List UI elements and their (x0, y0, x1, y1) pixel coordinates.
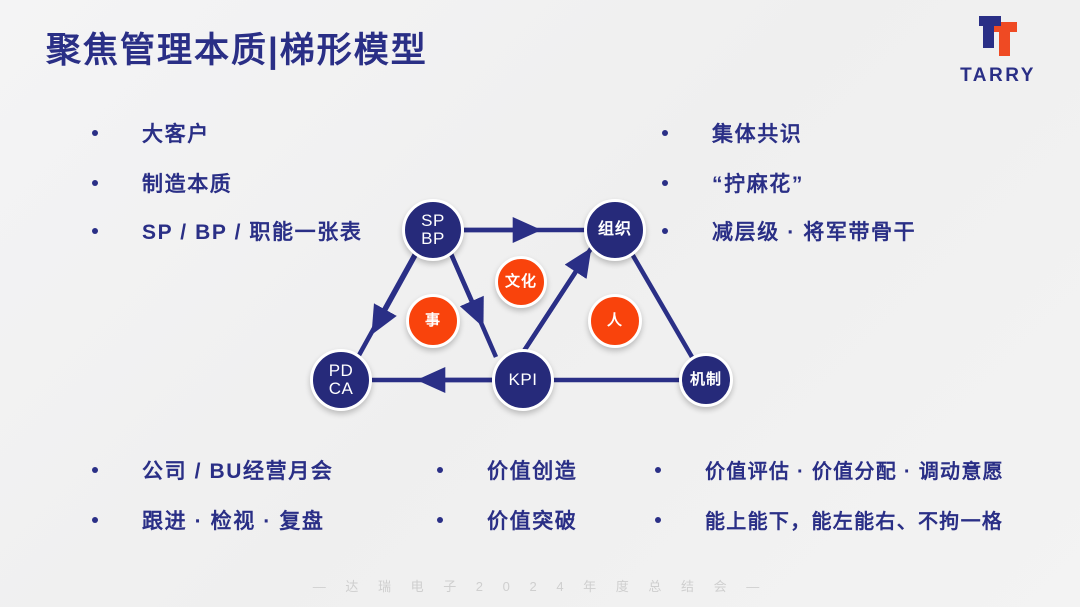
diagram-node-wenhua[interactable]: 文化 (495, 256, 547, 308)
bullet-label: 公司 / BU经营月会 (142, 455, 333, 485)
node-label-line1: KPI (509, 371, 538, 389)
node-label-line1: PD (329, 362, 354, 380)
bullet-label: 价值突破 (487, 505, 577, 535)
bullet-dot-icon (92, 130, 98, 136)
diagram-node-pdca[interactable]: PD CA (310, 349, 372, 411)
node-label-line1: 组织 (598, 222, 632, 239)
slide-footer: — 达 瑞 电 子 2 0 2 4 年 度 总 结 会 — (0, 576, 1080, 595)
node-label-line2: CA (329, 380, 354, 398)
node-label-line1: SP (421, 212, 445, 230)
diagram-node-shi[interactable]: 事 (406, 294, 460, 348)
bullet-label: 价值评估 · 价值分配 · 调动意愿 (705, 455, 1004, 484)
bullet-dot-icon (92, 228, 98, 234)
bullet-dot-icon (437, 517, 443, 523)
node-label-line1: 人 (607, 313, 623, 329)
node-label-line2: BP (421, 230, 445, 248)
page-title: 聚焦管理本质|梯形模型 (46, 22, 428, 73)
bullet-item-top-right-0: 集体共识 (662, 118, 802, 148)
diagram-node-spbp[interactable]: SP BP (402, 199, 464, 261)
bullet-item-bottom-middle-0: 价值创造 (437, 455, 577, 485)
bullet-dot-icon (92, 180, 98, 186)
bullet-item-top-left-1: 制造本质 (92, 168, 232, 198)
node-label-line1: 文化 (505, 274, 537, 290)
trapezoid-model-diagram: SP BP 组织 PD CA KPI 机制 事 文化 人 (280, 185, 770, 420)
diagram-node-kpi[interactable]: KPI (492, 349, 554, 411)
logo-mark-icon (967, 14, 1029, 60)
bullet-dot-icon (655, 517, 661, 523)
bullet-dot-icon (655, 467, 661, 473)
node-label-line1: 机制 (690, 372, 722, 388)
bullet-item-top-left-0: 大客户 (92, 118, 210, 148)
node-label-line1: 事 (425, 313, 441, 329)
bullet-label: 集体共识 (712, 118, 802, 148)
bullet-label: 跟进 · 检视 · 复盘 (142, 505, 325, 535)
bullet-label: 大客户 (142, 118, 210, 148)
diagram-node-ren[interactable]: 人 (588, 294, 642, 348)
tarry-logo: TARRY (950, 14, 1046, 90)
bullet-dot-icon (437, 467, 443, 473)
bullet-dot-icon (662, 130, 668, 136)
bullet-label: 能上能下，能左能右、不拘一格 (705, 505, 1003, 534)
slide-root: 聚焦管理本质|梯形模型 TARRY 大客户 制造本质 SP / BP / 职能一… (0, 0, 1080, 607)
diagram-node-zuzhi[interactable]: 组织 (584, 199, 646, 261)
bullet-item-bottom-left-0: 公司 / BU经营月会 (92, 455, 333, 485)
bullet-label: 制造本质 (142, 168, 232, 198)
bullet-item-bottom-right-0: 价值评估 · 价值分配 · 调动意愿 (655, 455, 1004, 484)
bullet-dot-icon (92, 517, 98, 523)
bullet-item-bottom-right-1: 能上能下，能左能右、不拘一格 (655, 505, 1003, 534)
logo-wordmark: TARRY (960, 65, 1036, 87)
bullet-item-bottom-middle-1: 价值突破 (437, 505, 577, 535)
bullet-label: 价值创造 (487, 455, 577, 485)
bullet-dot-icon (92, 467, 98, 473)
bullet-item-bottom-left-1: 跟进 · 检视 · 复盘 (92, 505, 325, 535)
diagram-node-jizhi[interactable]: 机制 (679, 353, 733, 407)
